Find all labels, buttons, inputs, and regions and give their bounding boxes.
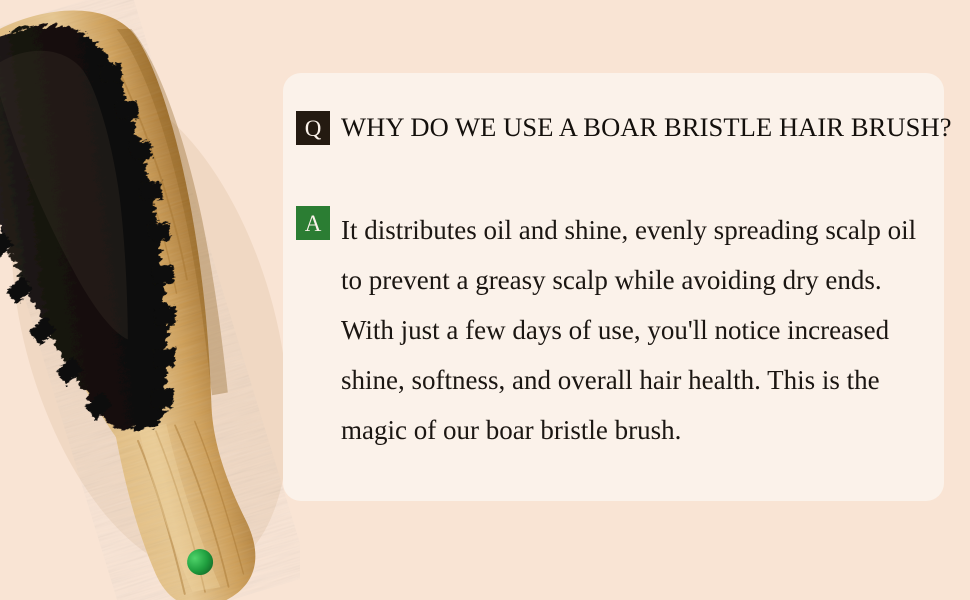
faq-answer-text: It distributes oil and shine, evenly spr…	[341, 205, 929, 455]
faq-answer-row: A It distributes oil and shine, evenly s…	[296, 205, 930, 455]
faq-card: Q WHY DO WE USE A BOAR BRISTLE HAIR BRUS…	[283, 73, 944, 501]
faq-question-text: WHY DO WE USE A BOAR BRISTLE HAIR BRUSH?	[341, 110, 952, 144]
product-image-boar-bristle-brush	[0, 0, 300, 600]
question-badge: Q	[296, 111, 330, 145]
faq-banner: Q WHY DO WE USE A BOAR BRISTLE HAIR BRUS…	[0, 0, 970, 600]
answer-badge: A	[296, 206, 330, 240]
brush-illustration	[0, 0, 300, 600]
faq-question-row: Q WHY DO WE USE A BOAR BRISTLE HAIR BRUS…	[296, 110, 930, 145]
